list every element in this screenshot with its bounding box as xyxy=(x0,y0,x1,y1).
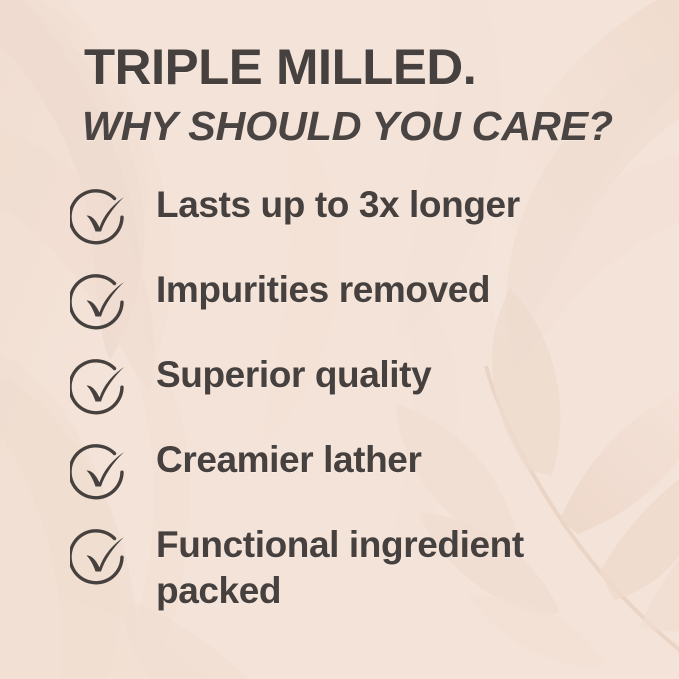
circle-check-icon xyxy=(70,356,138,418)
list-item: Functional ingredient packed xyxy=(70,522,670,614)
list-item: Creamier lather xyxy=(70,437,670,522)
poster-content: TRIPLE MILLED. WHY SHOULD YOU CARE? Last… xyxy=(0,0,679,679)
list-item: Superior quality xyxy=(70,352,670,437)
benefit-label: Creamier lather xyxy=(156,437,596,483)
benefit-label: Lasts up to 3x longer xyxy=(156,182,596,228)
list-item: Impurities removed xyxy=(70,267,670,352)
benefit-label: Superior quality xyxy=(156,352,596,398)
promo-poster: TRIPLE MILLED. WHY SHOULD YOU CARE? Last… xyxy=(0,0,679,679)
circle-check-icon xyxy=(70,271,138,333)
benefit-label: Impurities removed xyxy=(156,267,596,313)
circle-check-icon xyxy=(70,526,138,588)
circle-check-icon xyxy=(70,186,138,248)
circle-check-icon xyxy=(70,441,138,503)
page-title: TRIPLE MILLED. xyxy=(84,42,476,92)
benefits-list: Lasts up to 3x longer Impurities removed xyxy=(70,182,670,614)
list-item: Lasts up to 3x longer xyxy=(70,182,670,267)
benefit-label: Functional ingredient packed xyxy=(156,522,596,614)
page-subtitle: WHY SHOULD YOU CARE? xyxy=(82,106,613,147)
